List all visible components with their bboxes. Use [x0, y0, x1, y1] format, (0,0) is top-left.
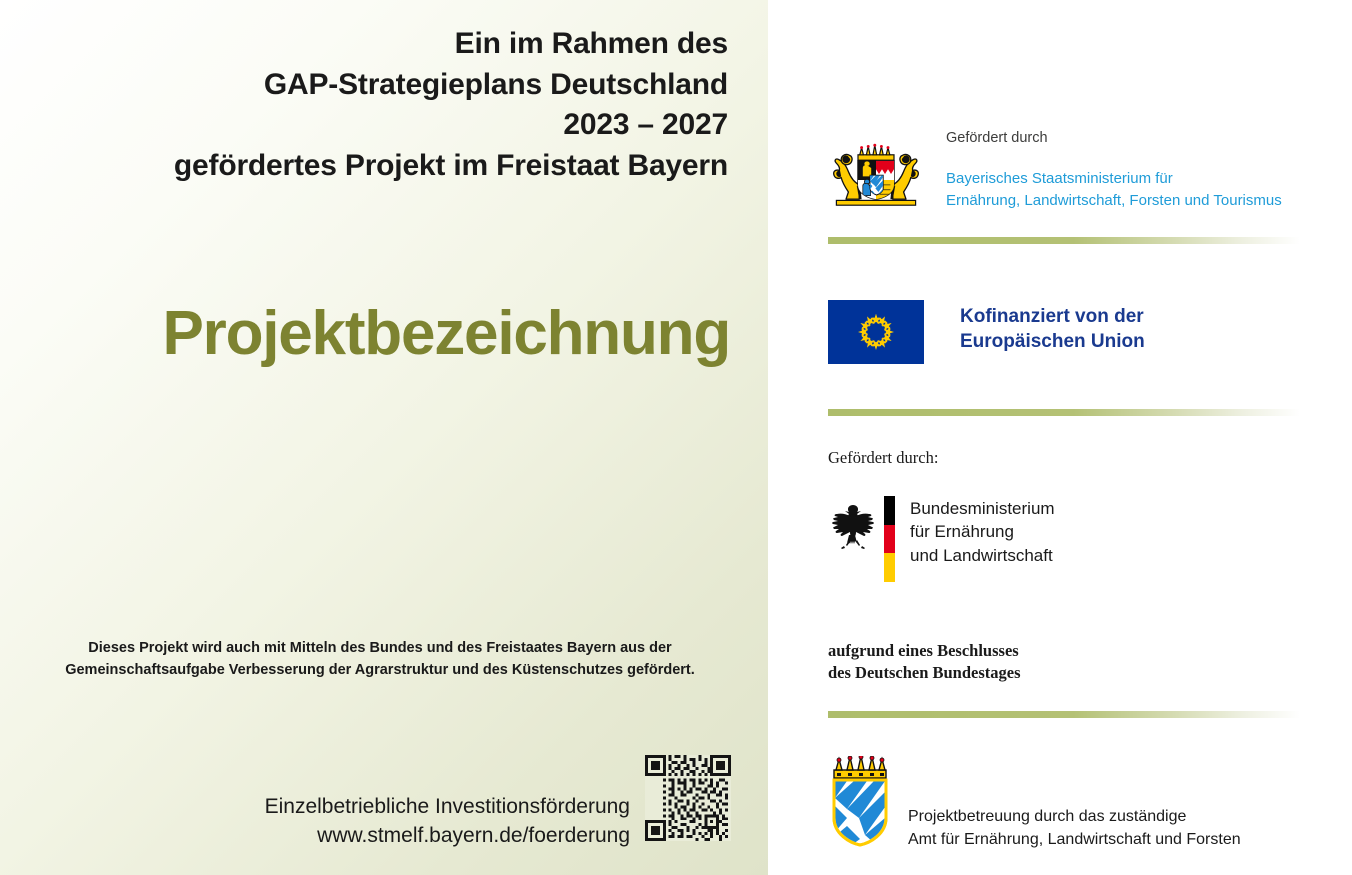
aelf-block: Projektbetreuung durch das zuständige Am… [828, 756, 1328, 856]
intro-heading: Ein im Rahmen des GAP-Strategieplans Deu… [28, 24, 728, 187]
bavarian-state-coat-of-arms-icon [828, 140, 924, 208]
bmel-decision-note: aufgrund eines Beschlusses des Deutschen… [828, 640, 1021, 684]
programme-name: Einzelbetriebliche Investitionsförderung [0, 793, 630, 822]
bmel-decision-line-1: aufgrund eines Beschlusses [828, 640, 1021, 662]
sponsor-logo-column: Gefördert durch Bayerisches Staatsminist… [768, 0, 1352, 875]
programme-footer: Einzelbetriebliche Investitionsförderung… [0, 755, 768, 865]
funding-note: Dieses Projekt wird auch mit Mitteln des… [30, 638, 730, 682]
programme-text: Einzelbetriebliche Investitionsförderung… [0, 793, 630, 851]
bmel-funded-label: Gefördert durch: [828, 448, 938, 468]
bmel-sponsor-block: Gefördert durch: [828, 448, 1328, 688]
divider-2 [828, 409, 1300, 416]
intro-heading-line-1: Ein im Rahmen des [28, 24, 728, 65]
divider-1 [828, 237, 1300, 244]
intro-heading-line-2: GAP-Strategieplans Deutschland [28, 65, 728, 106]
stmelf-name-line-2: Ernährung, Landwirtschaft, Forsten und T… [946, 190, 1346, 211]
eu-text-line-1: Kofinanziert von der [960, 305, 1145, 330]
intro-heading-line-3: 2023 – 2027 [28, 105, 728, 146]
stmelf-name-line-1: Bayerisches Staatsministerium für [946, 168, 1346, 189]
stmelf-funded-label: Gefördert durch [946, 130, 1346, 147]
flag-band-red [884, 525, 895, 554]
divider-3 [828, 711, 1300, 718]
bmel-logo: Bundesministerium für Ernährung und Land… [828, 496, 1043, 582]
bavarian-shield-icon [828, 756, 892, 848]
stmelf-sponsor-block: Gefördert durch Bayerisches Staatsminist… [828, 130, 1328, 220]
left-panel: Ein im Rahmen des GAP-Strategieplans Deu… [0, 0, 768, 875]
flag-band-black [884, 496, 895, 525]
bmel-name-line-3: und Landwirtschaft [910, 544, 1055, 567]
programme-url[interactable]: www.stmelf.bayern.de/foerderung [0, 822, 630, 851]
bmel-name: Bundesministerium für Ernährung und Land… [910, 497, 1055, 567]
bmel-name-line-1: Bundesministerium [910, 497, 1055, 520]
funding-note-line-2: Gemeinschaftsaufgabe Verbesserung der Ag… [30, 660, 730, 682]
funding-note-line-1: Dieses Projekt wird auch mit Mitteln des… [30, 638, 730, 660]
german-flag-bar-icon [884, 496, 895, 582]
flag-band-gold [884, 553, 895, 582]
bmel-decision-line-2: des Deutschen Bundestages [828, 662, 1021, 684]
intro-heading-line-4: gefördertes Projekt im Freistaat Bayern [28, 146, 728, 187]
aelf-text: Projektbetreuung durch das zuständige Am… [908, 806, 1241, 851]
page-title: Projektbezeichnung [30, 303, 730, 365]
stmelf-name: Bayerisches Staatsministerium für Ernähr… [946, 168, 1346, 211]
stmelf-text: Gefördert durch Bayerisches Staatsminist… [946, 130, 1346, 211]
eu-flag-icon [828, 300, 924, 364]
aelf-text-line-2: Amt für Ernährung, Landwirtschaft und Fo… [908, 829, 1241, 852]
eu-cofinance-text: Kofinanziert von der Europäischen Union [960, 305, 1145, 354]
eu-sponsor-block: Kofinanziert von der Europäischen Union [828, 300, 1328, 366]
aelf-text-line-1: Projektbetreuung durch das zuständige [908, 806, 1241, 829]
eu-text-line-2: Europäischen Union [960, 330, 1145, 355]
bundesadler-icon [828, 502, 878, 554]
qr-code[interactable] [645, 755, 731, 841]
bmel-name-line-2: für Ernährung [910, 520, 1055, 543]
